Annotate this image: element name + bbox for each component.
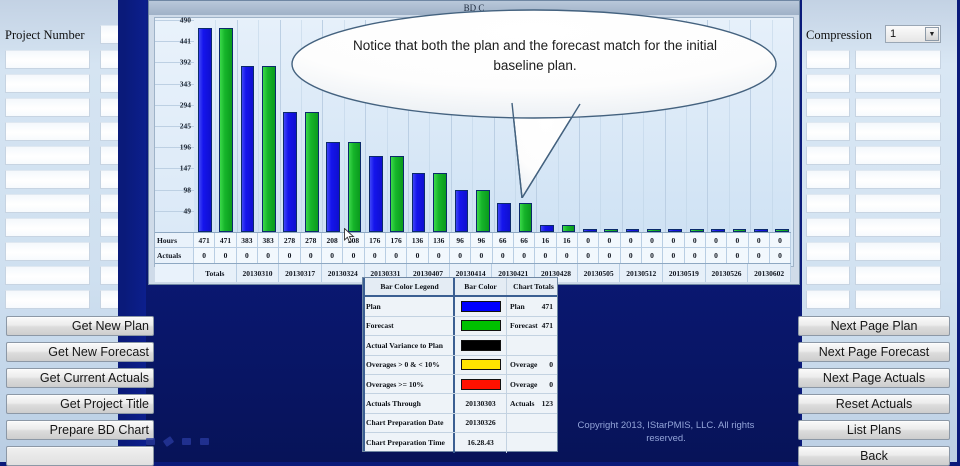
hours-cell-17: 16: [557, 233, 578, 247]
x-gridline: [579, 20, 580, 232]
hours-cell-20: 0: [621, 233, 642, 247]
hours-cell-18: 0: [578, 233, 599, 247]
right-field-a-7[interactable]: [806, 194, 850, 213]
hours-cell-12: 96: [450, 233, 471, 247]
legend-name: Forecast: [363, 317, 455, 335]
legend-row-7: Chart Preparation Time16.28.43: [363, 433, 557, 452]
legend-name: Actual Variance to Plan: [363, 336, 455, 354]
legend-name: Overages > 0 & < 10%: [363, 356, 455, 374]
button-get-new-plan[interactable]: Get New Plan: [6, 316, 154, 336]
compression-label: Compression: [806, 28, 872, 43]
legend-row-3: Overages > 0 & < 10%Overage0: [363, 356, 557, 375]
legend-swatch-cell: [455, 356, 507, 374]
legend-total-value: [541, 433, 557, 452]
chart-window-title: BD C: [464, 3, 485, 13]
hours-cell-24: 0: [706, 233, 727, 247]
x-gridline: [729, 20, 730, 232]
bar-forecast-2: [305, 112, 319, 232]
arrow-tool-icon[interactable]: [200, 438, 209, 445]
y-tick-label: 392: [180, 58, 191, 67]
legend-total-label: [507, 414, 541, 432]
y-axis: 4904413923432942451961479849: [155, 20, 194, 232]
legend-row-2: Actual Variance to Plan: [363, 336, 557, 355]
legend-swatch-cell: 20130303: [455, 394, 507, 412]
actuals-cell-8: 0: [365, 248, 386, 263]
chart-window-titlebar: BD C: [149, 1, 799, 15]
button-label: Get Current Actuals: [40, 371, 149, 385]
row-header-dates: [155, 264, 194, 282]
hours-cell-15: 66: [514, 233, 535, 247]
actuals-cell-3: 0: [258, 248, 279, 263]
legend-row-1: ForecastForecast471: [363, 317, 557, 336]
bar-plan-7: [497, 203, 511, 232]
plot-area: [194, 20, 791, 232]
right-field-a-5[interactable]: [806, 146, 850, 165]
button-label: Back: [860, 449, 888, 463]
hours-cell-14: 66: [493, 233, 514, 247]
button-next-page-plan[interactable]: Next Page Plan: [798, 316, 950, 336]
button-label: Get Project Title: [60, 397, 149, 411]
left-field-2[interactable]: [5, 74, 90, 93]
actuals-cell-13: 0: [471, 248, 492, 263]
legend-total-label: Overage: [507, 356, 541, 374]
table-row-hours: Hours 4714713833832782782082081761761361…: [155, 232, 791, 248]
right-field-b-8[interactable]: [855, 218, 941, 237]
x-gridline: [322, 20, 323, 232]
hours-cell-3: 383: [258, 233, 279, 247]
actuals-cell-17: 0: [557, 248, 578, 263]
hours-cell-8: 176: [365, 233, 386, 247]
date-cell-13: 20130602: [748, 264, 791, 282]
bd-chart-window: BD C 4904413923432942451961479849 Hours …: [148, 0, 800, 285]
actuals-cell-5: 0: [301, 248, 322, 263]
right-field-a-4[interactable]: [806, 122, 850, 141]
x-gridline: [665, 20, 666, 232]
color-swatch: [461, 320, 501, 331]
color-swatch: [461, 301, 501, 312]
legend-total-label: Overage: [507, 375, 541, 393]
mini-toolbar: [146, 438, 209, 445]
right-field-a-8[interactable]: [806, 218, 850, 237]
x-gridline: [429, 20, 430, 232]
y-tick-label: 245: [180, 122, 191, 131]
y-tick-label: 441: [180, 37, 191, 46]
actuals-cell-4: 0: [279, 248, 300, 263]
actuals-cell-18: 0: [578, 248, 599, 263]
button-back[interactable]: Back: [798, 446, 950, 466]
legend-total-value: [541, 336, 557, 354]
x-gridline: [365, 20, 366, 232]
chevron-down-icon[interactable]: ▼: [925, 27, 939, 41]
hours-cell-5: 278: [301, 233, 322, 247]
x-gridline: [215, 20, 216, 232]
actuals-cell-16: 0: [535, 248, 556, 263]
copyright-text: Copyright 2013, IStarPMIS, LLC. All righ…: [566, 420, 766, 446]
button-next-page-actuals[interactable]: Next Page Actuals: [798, 368, 950, 388]
chart-body: 4904413923432942451961479849 Hours 47147…: [154, 17, 794, 267]
compression-select[interactable]: 1 ▼: [885, 25, 941, 43]
x-gridline: [600, 20, 601, 232]
legend-swatch-cell: 16.28.43: [455, 433, 507, 452]
bar-plan-4: [369, 156, 383, 232]
left-field-3[interactable]: [5, 98, 90, 117]
rectangle-tool-icon[interactable]: [146, 438, 155, 445]
bar-plan-0: [198, 28, 212, 232]
right-field-b-11[interactable]: [855, 290, 941, 309]
actuals-cell-2: 0: [237, 248, 258, 263]
left-field-11[interactable]: [5, 290, 90, 309]
bar-forecast-8: [562, 225, 576, 232]
x-gridline: [451, 20, 452, 232]
right-field-b-5[interactable]: [855, 146, 941, 165]
legend-name: Actuals Through: [363, 394, 455, 412]
legend-total-value: 0: [541, 356, 557, 374]
actuals-cell-14: 0: [493, 248, 514, 263]
button-label: Get New Forecast: [48, 345, 149, 359]
legend-total-value: 471: [541, 317, 557, 335]
date-cell-9: 20130505: [578, 264, 621, 282]
right-field-a-3[interactable]: [806, 98, 850, 117]
color-swatch: [461, 379, 501, 390]
legend-swatch-cell: [455, 336, 507, 354]
left-field-9[interactable]: [5, 242, 90, 261]
x-gridline: [472, 20, 473, 232]
actuals-cell-21: 0: [642, 248, 663, 263]
x-gridline: [750, 20, 751, 232]
legend-row-0: PlanPlan471: [363, 297, 557, 316]
y-tick-label: 98: [184, 185, 192, 194]
button-list-plans[interactable]: List Plans: [798, 420, 950, 440]
x-gridline: [558, 20, 559, 232]
left-field-6[interactable]: [5, 170, 90, 189]
x-gridline: [494, 20, 495, 232]
legend-header-col3: Chart Totals: [507, 278, 557, 295]
button-placeholder[interactable]: [6, 446, 154, 466]
button-next-page-forecast[interactable]: Next Page Forecast: [798, 342, 950, 362]
bar-forecast-1: [262, 66, 276, 232]
actuals-cell-27: 0: [770, 248, 791, 263]
hours-cell-16: 16: [535, 233, 556, 247]
button-label: Prepare BD Chart: [50, 423, 149, 437]
button-reset-actuals[interactable]: Reset Actuals: [798, 394, 950, 414]
row-header-actuals: Actuals: [155, 248, 194, 263]
bar-forecast-7: [519, 203, 533, 232]
bar-plan-1: [241, 66, 255, 232]
actuals-cell-12: 0: [450, 248, 471, 263]
legend-total-value: 0: [541, 375, 557, 393]
legend-total-label: Actuals: [507, 394, 541, 412]
hours-cell-11: 136: [429, 233, 450, 247]
hours-cell-26: 0: [749, 233, 770, 247]
left-field-8[interactable]: [5, 218, 90, 237]
legend-swatch-cell: [455, 375, 507, 393]
compression-value: 1: [890, 28, 896, 40]
actuals-cell-1: 0: [215, 248, 236, 263]
date-cell-11: 20130519: [663, 264, 706, 282]
hours-cell-22: 0: [663, 233, 684, 247]
right-field-a-11[interactable]: [806, 290, 850, 309]
bar-plan-2: [283, 112, 297, 232]
x-gridline: [258, 20, 259, 232]
right-field-b-1[interactable]: [855, 50, 941, 69]
x-gridline: [686, 20, 687, 232]
mouse-cursor: [344, 228, 355, 243]
actuals-cell-23: 0: [685, 248, 706, 263]
hours-cell-25: 0: [727, 233, 748, 247]
legend-total-value: [541, 414, 557, 432]
x-gridline: [344, 20, 345, 232]
button-get-current-actuals[interactable]: Get Current Actuals: [6, 368, 154, 388]
button-label: Reset Actuals: [836, 397, 912, 411]
button-get-project-title[interactable]: Get Project Title: [6, 394, 154, 414]
bar-plan-3: [326, 142, 340, 232]
note-tool-icon[interactable]: [182, 438, 191, 445]
x-gridline: [280, 20, 281, 232]
actuals-cell-10: 0: [407, 248, 428, 263]
legend-rows: PlanPlan471ForecastForecast471Actual Var…: [363, 297, 557, 452]
legend-total-label: Plan: [507, 297, 541, 315]
x-gridline: [707, 20, 708, 232]
y-tick-label: 49: [184, 206, 192, 215]
legend-header-col2: Bar Color: [455, 278, 507, 295]
date-cell-2: 20130317: [279, 264, 322, 282]
left-field-4[interactable]: [5, 122, 90, 141]
right-field-a-2[interactable]: [806, 74, 850, 93]
date-cell-10: 20130512: [620, 264, 663, 282]
date-cell-0: Totals: [194, 264, 237, 282]
right-form-panel: Compression 1 ▼: [800, 0, 960, 462]
legend-total-value: 123: [541, 394, 557, 412]
color-swatch: [461, 359, 501, 370]
button-label: Next Page Actuals: [823, 371, 925, 385]
hours-cell-0: 471: [194, 233, 215, 247]
left-field-1[interactable]: [5, 50, 90, 69]
hours-cell-10: 136: [407, 233, 428, 247]
button-label: Next Page Plan: [831, 319, 918, 333]
date-cell-12: 20130526: [706, 264, 749, 282]
bar-plan-8: [540, 225, 554, 232]
legend-row-6: Chart Preparation Date20130326: [363, 414, 557, 433]
right-field-b-9[interactable]: [855, 242, 941, 261]
y-tick-label: 490: [180, 16, 191, 25]
legend-header-row: Bar Color Legend Bar Color Chart Totals: [363, 278, 557, 297]
hours-cell-4: 278: [279, 233, 300, 247]
left-field-10[interactable]: [5, 266, 90, 285]
hours-cell-6: 208: [322, 233, 343, 247]
hours-cell-21: 0: [642, 233, 663, 247]
right-field-a-9[interactable]: [806, 242, 850, 261]
actuals-cell-20: 0: [621, 248, 642, 263]
bar-forecast-3: [348, 142, 362, 232]
button-prepare-bd-chart[interactable]: Prepare BD Chart: [6, 420, 154, 440]
right-field-a-6[interactable]: [806, 170, 850, 189]
bar-plan-6: [455, 190, 469, 232]
x-gridline: [408, 20, 409, 232]
actuals-cell-9: 0: [386, 248, 407, 263]
x-gridline: [237, 20, 238, 232]
button-label: Next Page Forecast: [819, 345, 929, 359]
hours-cell-9: 176: [386, 233, 407, 247]
y-tick-label: 196: [180, 143, 191, 152]
actuals-cell-11: 0: [429, 248, 450, 263]
legend-total-label: [507, 336, 541, 354]
right-field-b-10[interactable]: [855, 266, 941, 285]
actuals-cell-26: 0: [749, 248, 770, 263]
right-field-b-7[interactable]: [855, 194, 941, 213]
legend-swatch-cell: 20130326: [455, 414, 507, 432]
legend-name: Chart Preparation Date: [363, 414, 455, 432]
y-tick-label: 147: [180, 164, 191, 173]
color-swatch: [461, 340, 501, 351]
x-gridline: [515, 20, 516, 232]
actuals-cell-19: 0: [599, 248, 620, 263]
legend-total-label: [507, 433, 541, 452]
row-header-hours: Hours: [155, 233, 194, 247]
hours-cell-19: 0: [599, 233, 620, 247]
actuals-cell-6: 0: [322, 248, 343, 263]
x-gridline: [387, 20, 388, 232]
button-label: List Plans: [847, 423, 901, 437]
hours-cell-23: 0: [685, 233, 706, 247]
legend-total-label: Forecast: [507, 317, 541, 335]
legend-left-rule: [363, 278, 365, 451]
bar-forecast-0: [219, 28, 233, 232]
table-row-actuals: Actuals 0000000000000000000000000000: [155, 248, 791, 264]
date-cell-1: 20130310: [237, 264, 280, 282]
right-field-a-10[interactable]: [806, 266, 850, 285]
bar-forecast-4: [390, 156, 404, 232]
button-label: Get New Plan: [72, 319, 149, 333]
bar-plan-5: [412, 173, 426, 232]
right-field-b-4[interactable]: [855, 122, 941, 141]
hours-cell-27: 0: [770, 233, 791, 247]
project-number-label: Project Number: [5, 28, 85, 43]
x-gridline: [536, 20, 537, 232]
x-gridline: [301, 20, 302, 232]
actuals-cell-22: 0: [663, 248, 684, 263]
hours-cell-1: 471: [215, 233, 236, 247]
actuals-cell-0: 0: [194, 248, 215, 263]
right-field-b-3[interactable]: [855, 98, 941, 117]
left-field-7[interactable]: [5, 194, 90, 213]
x-gridline: [622, 20, 623, 232]
right-field-b-6[interactable]: [855, 170, 941, 189]
chart-data-table: Hours 4714713833832782782082081761761361…: [155, 232, 791, 266]
legend-header-col1: Bar Color Legend: [363, 278, 455, 295]
actuals-cell-25: 0: [727, 248, 748, 263]
y-tick-label: 294: [180, 100, 191, 109]
y-tick-label: 343: [180, 79, 191, 88]
legend-name: Plan: [363, 297, 455, 315]
legend-name: Chart Preparation Time: [363, 433, 455, 452]
left-field-5[interactable]: [5, 146, 90, 165]
legend-total-value: 471: [541, 297, 557, 315]
bar-color-legend-table: Bar Color Legend Bar Color Chart Totals …: [362, 277, 558, 452]
bar-forecast-5: [433, 173, 447, 232]
legend-name: Overages >= 10%: [363, 375, 455, 393]
window-gutter-left: [124, 0, 146, 462]
hours-cell-13: 96: [471, 233, 492, 247]
actuals-cell-15: 0: [514, 248, 535, 263]
x-gridline: [643, 20, 644, 232]
right-field-b-2[interactable]: [855, 74, 941, 93]
actuals-cell-7: 0: [343, 248, 364, 263]
x-gridline: [772, 20, 773, 232]
legend-row-4: Overages >= 10%Overage0: [363, 375, 557, 394]
legend-swatch-cell: [455, 317, 507, 335]
date-cell-3: 20130324: [322, 264, 365, 282]
legend-row-5: Actuals Through20130303Actuals123: [363, 394, 557, 413]
actuals-cell-24: 0: [706, 248, 727, 263]
legend-swatch-cell: [455, 297, 507, 315]
button-get-new-forecast[interactable]: Get New Forecast: [6, 342, 154, 362]
bar-forecast-6: [476, 190, 490, 232]
right-field-a-1[interactable]: [806, 50, 850, 69]
hours-cell-2: 383: [237, 233, 258, 247]
